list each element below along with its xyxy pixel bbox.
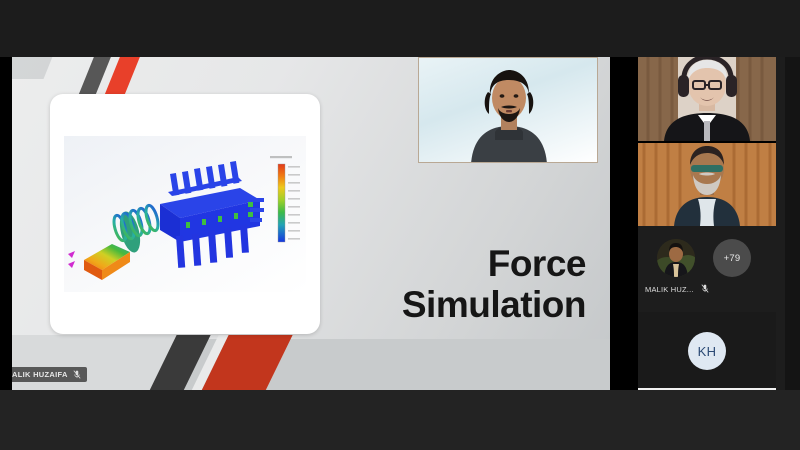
letterbox-bottom xyxy=(0,390,800,450)
participant-video-1[interactable] xyxy=(638,57,776,141)
letterbox-right xyxy=(785,57,800,390)
participant-video-1-figure xyxy=(638,57,776,141)
presenter-video-figure xyxy=(419,58,598,163)
letterbox-left xyxy=(0,57,12,390)
sidebar-right-padding xyxy=(776,57,785,390)
slide-decor-stripe-light-top xyxy=(12,57,60,79)
slide-title: Force Simulation xyxy=(256,243,586,325)
initials-avatar: KH xyxy=(688,332,726,370)
screen-root: Force Simulation ALIK HUZAIFA xyxy=(0,0,800,450)
microphone-muted-icon xyxy=(73,370,81,379)
participant-roster: +79 MALIK HUZ... xyxy=(638,226,776,310)
slide-title-line-1: Force xyxy=(256,243,586,284)
roster-participant-name: MALIK HUZ... xyxy=(645,285,694,294)
avatar-photo-figure xyxy=(657,239,695,277)
participant-video-2-figure xyxy=(638,143,776,226)
presenter-nametag-label: ALIK HUZAIFA xyxy=(12,370,68,379)
roster-participant-row: MALIK HUZ... xyxy=(645,284,765,295)
overflow-participants-badge[interactable]: +79 xyxy=(713,239,751,277)
initials-avatar-tile[interactable]: KH xyxy=(638,312,776,390)
participant-video-2[interactable] xyxy=(638,143,776,226)
avatar[interactable] xyxy=(657,239,695,277)
presenter-nametag: ALIK HUZAIFA xyxy=(12,367,87,382)
slide-title-line-2: Simulation xyxy=(256,284,586,325)
slide-sidebar-gap xyxy=(610,57,638,390)
sidebar-bottom-rule xyxy=(638,388,776,390)
presenter-video-tile[interactable] xyxy=(418,57,598,163)
microphone-muted-icon xyxy=(701,284,709,295)
letterbox-top xyxy=(0,0,800,57)
participant-sidebar: +79 MALIK HUZ... KH xyxy=(638,57,785,390)
